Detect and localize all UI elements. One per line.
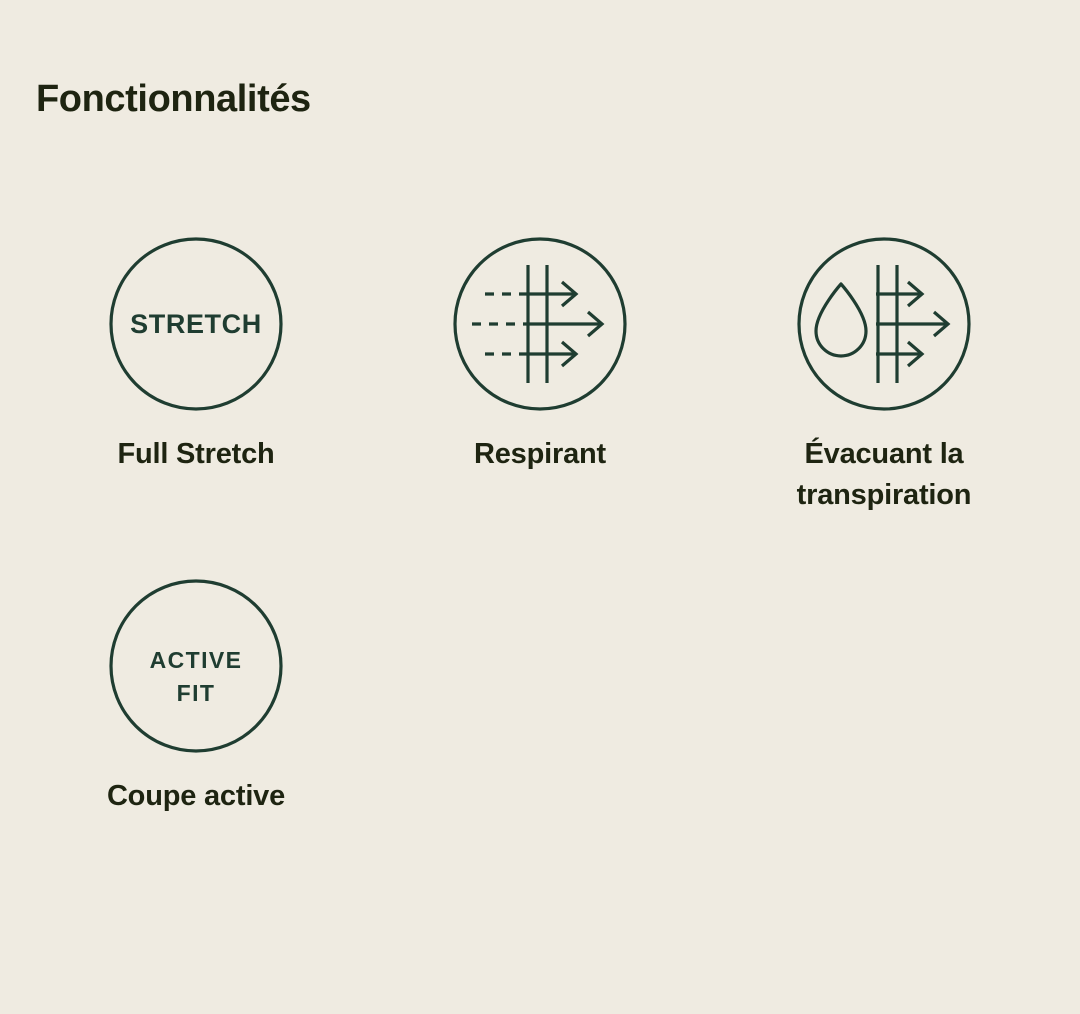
active-fit-badge-label-line2: FIT bbox=[177, 680, 216, 706]
active-fit-badge-icon: ACTIVE FIT bbox=[108, 578, 284, 754]
feature-item-moisture-wicking: Évacuant la transpiration bbox=[712, 236, 1056, 516]
feature-grid: STRETCH Full Stretch bbox=[0, 236, 1080, 818]
feature-label-moisture-wicking: Évacuant la transpiration bbox=[754, 434, 1014, 516]
stretch-badge-icon: STRETCH bbox=[108, 236, 284, 412]
stretch-badge-label: STRETCH bbox=[130, 309, 262, 339]
feature-item-active-fit: ACTIVE FIT Coupe active bbox=[24, 578, 368, 817]
features-section: Fonctionnalités STRETCH Full Stretch bbox=[0, 0, 1080, 1014]
feature-label-full-stretch: Full Stretch bbox=[117, 434, 274, 475]
moisture-wicking-droplet-icon bbox=[796, 236, 972, 412]
feature-item-respirant: Respirant bbox=[368, 236, 712, 516]
feature-label-respirant: Respirant bbox=[474, 434, 606, 475]
page-title: Fonctionnalités bbox=[36, 78, 311, 122]
feature-item-full-stretch: STRETCH Full Stretch bbox=[24, 236, 368, 516]
feature-label-active-fit: Coupe active bbox=[107, 776, 285, 817]
breathable-airflow-icon bbox=[452, 236, 628, 412]
active-fit-badge-label-line1: ACTIVE bbox=[150, 647, 243, 673]
